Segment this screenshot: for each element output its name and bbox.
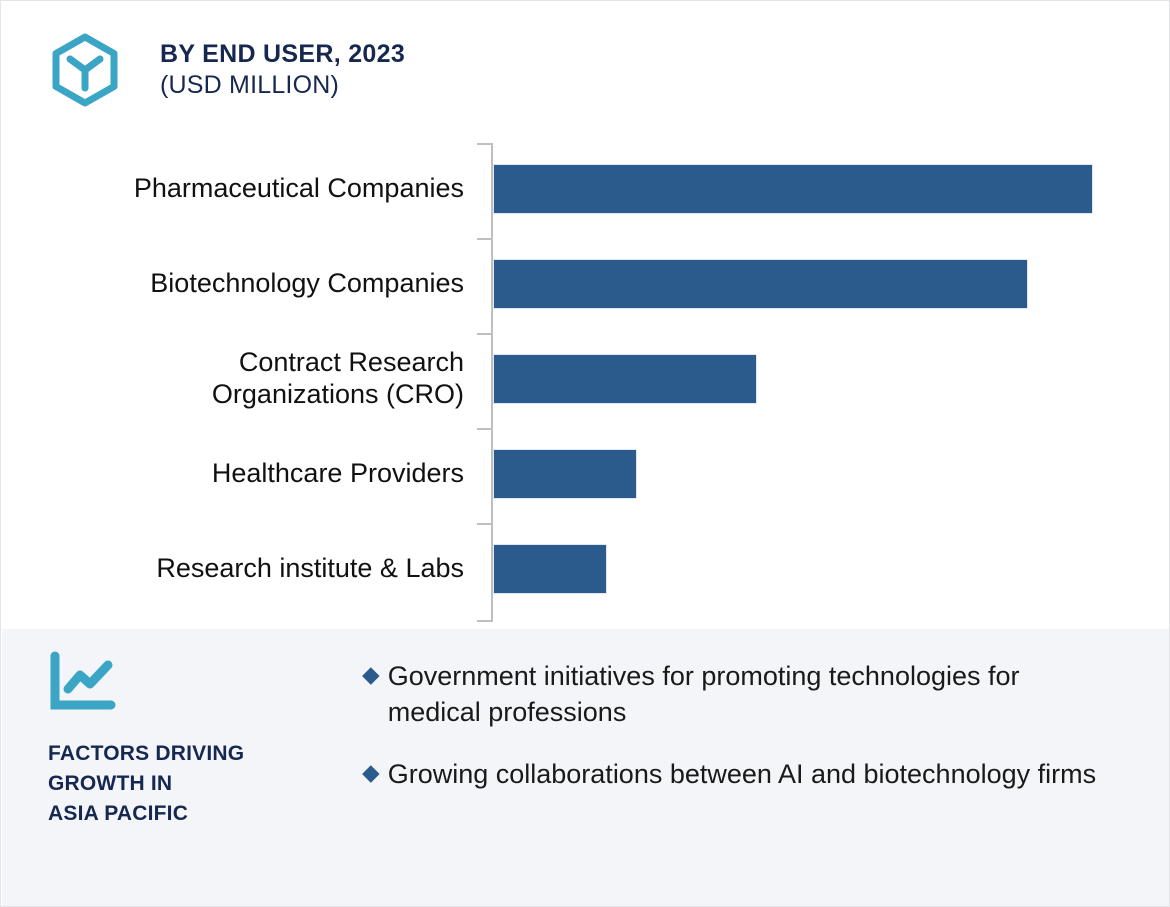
diamond-bullet-icon: ◆ — [362, 757, 380, 787]
bar-segment — [493, 449, 637, 499]
axis-tick — [477, 428, 491, 430]
bar-chart: Pharmaceutical Companies Biotechnology C… — [1, 139, 1170, 626]
header-text-block: BY END USER, 2023 (USD MILLION) — [160, 39, 405, 100]
diamond-bullet-icon: ◆ — [362, 659, 380, 689]
bar-segment — [493, 164, 1093, 214]
bar-category-label: Healthcare Providers — [14, 458, 464, 490]
page-subtitle: (USD MILLION) — [160, 70, 405, 101]
bar-segment — [493, 259, 1028, 309]
axis-tick — [477, 143, 491, 145]
axis-tick — [477, 238, 491, 240]
list-item: ◆ Growing collaborations between AI and … — [362, 757, 1102, 793]
bar-segment — [493, 544, 607, 594]
bar-row: Research institute & Labs — [1, 544, 1170, 594]
axis-tick — [477, 523, 491, 525]
bar-row: Healthcare Providers — [1, 449, 1170, 499]
hexagon-y-icon — [48, 33, 122, 107]
axis-tick — [477, 333, 491, 335]
bar-category-label: Biotechnology Companies — [14, 268, 464, 300]
factors-list: ◆ Government initiatives for promoting t… — [362, 659, 1102, 819]
list-item-text: Government initiatives for promoting tec… — [388, 659, 1102, 731]
bar-category-label: Pharmaceutical Companies — [14, 173, 464, 205]
list-item: ◆ Government initiatives for promoting t… — [362, 659, 1102, 731]
factors-heading-block: FACTORS DRIVING GROWTH IN ASIA PACIFIC — [48, 651, 338, 828]
chart-card: BY END USER, 2023 (USD MILLION) Pharmace… — [0, 0, 1170, 907]
list-item-text: Growing collaborations between AI and bi… — [388, 757, 1096, 793]
page-title: BY END USER, 2023 — [160, 39, 405, 70]
bar-category-label: Contract Research Organizations (CRO) — [14, 347, 464, 410]
bar-segment — [493, 354, 757, 404]
factors-heading: FACTORS DRIVING GROWTH IN ASIA PACIFIC — [48, 739, 338, 828]
axis-tick — [477, 620, 491, 622]
factors-panel: FACTORS DRIVING GROWTH IN ASIA PACIFIC ◆… — [2, 629, 1170, 907]
bar-category-label: Research institute & Labs — [14, 553, 464, 585]
card-header: BY END USER, 2023 (USD MILLION) — [48, 33, 405, 107]
bar-row: Contract Research Organizations (CRO) — [1, 354, 1170, 404]
bar-row: Biotechnology Companies — [1, 259, 1170, 309]
line-chart-icon — [48, 651, 116, 713]
bar-row: Pharmaceutical Companies — [1, 164, 1170, 214]
